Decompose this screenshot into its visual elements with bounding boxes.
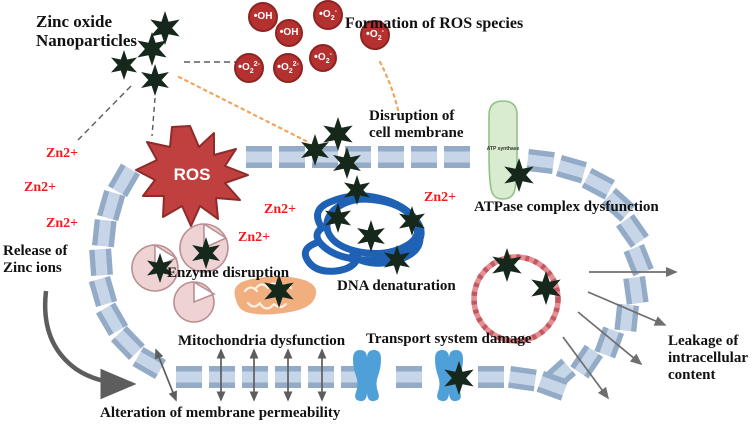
label-enzyme-disruption: Enzyme disruption (167, 265, 289, 282)
label-formation-of-ros: Formation of ROS species (345, 15, 523, 33)
nanoparticle-star (323, 117, 352, 151)
ros-species-molecule: •O2- (310, 45, 336, 71)
label-alteration-of-membrane-permeability: Alteration of membrane permeability (100, 405, 340, 422)
ros-species-molecule: •O2- (314, 1, 342, 29)
permeability-arrow (156, 350, 176, 400)
label-zinc-oxide-nanoparticles: Zinc oxide Nanoparticles (36, 12, 137, 50)
nanoparticle-star (141, 64, 169, 96)
label-mitochondria-dysfunction: Mitochondria dysfunction (178, 333, 345, 350)
zinc-ion-label: Zn2+ (238, 230, 270, 246)
nanoparticle-star (111, 50, 137, 80)
dotted-line-ros-to-disruption (380, 62, 398, 110)
ros-species-molecule: •OH (249, 3, 277, 31)
dotted-line-to-membrane (179, 77, 306, 141)
label-leakage-of-intracellular-content: Leakage of intracellular content (668, 333, 748, 383)
label-dna-denaturation: DNA denaturation (337, 278, 456, 295)
nanoparticle-star (150, 11, 179, 45)
nanoparticle-star (357, 220, 385, 252)
zinc-ion-label: Zn2+ (424, 190, 456, 206)
diagram-svg: ROS (0, 0, 754, 433)
dashed-line-to-ros-burst (152, 98, 155, 136)
label-disruption-of-cell-membrane: Disruption of cell membrane (369, 108, 464, 142)
dashed-line-to-zinc-ions (78, 86, 131, 140)
label-transport-system-damage: Transport system damage (366, 331, 532, 348)
nanoparticle-star (137, 32, 166, 66)
zinc-ion-label: Zn2+ (264, 202, 296, 218)
diagram-canvas: ROS (0, 0, 754, 433)
ros-species-molecule: •O22- (274, 54, 302, 82)
ros-burst: ROS (136, 126, 248, 226)
svg-text:•OH: •OH (280, 26, 299, 38)
zinc-ion-label: Zn2+ (24, 180, 56, 196)
ros-species-group: •OH•OH•O2-•O2-•O2-•O22-•O22- (235, 1, 389, 82)
ros-species-molecule: •OH (276, 20, 302, 46)
label-atp-synthase: ATP synthase (486, 146, 520, 154)
enzyme-molecule (174, 282, 214, 322)
svg-text:•OH: •OH (254, 10, 273, 22)
label-atpase-complex-dysfunction: ATPase complex dysfunction (474, 199, 659, 216)
zinc-ion-label: Zn2+ (46, 216, 78, 232)
ros-species-molecule: •O22- (235, 54, 263, 82)
zinc-ion-label: Zn2+ (46, 146, 78, 162)
transport-protein (353, 350, 381, 401)
ros-burst-label: ROS (174, 165, 211, 184)
label-release-of-zinc-ions: Release of Zinc ions (3, 243, 68, 277)
nanoparticle-star (492, 248, 521, 282)
